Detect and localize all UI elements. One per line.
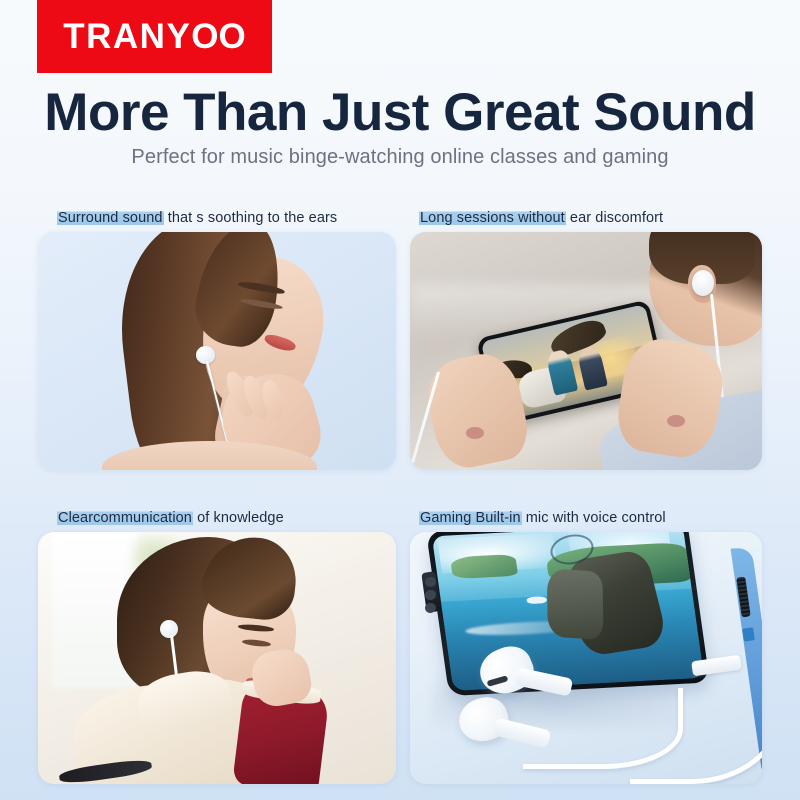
caption-highlight-2: Long sessions without xyxy=(419,210,566,226)
panel-image-long-sessions xyxy=(410,232,762,470)
brand-logo-text-tail: OO xyxy=(191,19,245,54)
caption-rest-4: mic with voice control xyxy=(522,510,666,526)
fingernail xyxy=(466,427,484,439)
panel-image-clear-communication xyxy=(38,532,396,784)
caption-rest-2: ear discomfort xyxy=(566,210,663,226)
fingernail xyxy=(667,415,685,427)
caption-clear-communication: Clearcommunication of knowledge xyxy=(57,510,284,526)
brand-logo: TRANYOO xyxy=(37,0,272,73)
caption-rest-1: that s soothing to the ears xyxy=(164,210,338,226)
caption-gaming-mic: Gaming Built-in mic with voice control xyxy=(419,510,666,526)
photo-woman-long-hair xyxy=(38,232,396,470)
page-subheadline: Perfect for music binge-watching online … xyxy=(0,146,800,169)
caption-long-sessions: Long sessions without ear discomfort xyxy=(419,210,663,226)
brand-logo-text: TRANYOO xyxy=(63,19,246,54)
photo-phone-earphones xyxy=(410,532,762,784)
earbud-icon xyxy=(160,620,178,638)
page-headline: More Than Just Great Sound xyxy=(0,84,800,141)
caption-highlight-4: Gaming Built-in xyxy=(419,510,522,526)
earphone-wire-second xyxy=(523,688,683,769)
phone-power-button xyxy=(742,627,754,641)
product-marketing-page: TRANYOO More Than Just Great Sound Perfe… xyxy=(0,0,800,800)
game-character-second xyxy=(547,568,604,640)
panel-image-surround-sound xyxy=(38,232,396,470)
caption-rest-3: of knowledge xyxy=(193,510,284,526)
panel-image-gaming-mic xyxy=(410,532,762,784)
photo-phone-video xyxy=(410,232,762,470)
caption-surround-sound: Surround sound that s soothing to the ea… xyxy=(57,210,337,226)
caption-highlight-3: Clearcommunication xyxy=(57,510,193,526)
caption-highlight-1: Surround sound xyxy=(57,210,164,226)
photo-woman-short-hair xyxy=(38,532,396,784)
brand-logo-text-main: TRANY xyxy=(63,19,191,54)
game-island-small xyxy=(450,554,518,579)
